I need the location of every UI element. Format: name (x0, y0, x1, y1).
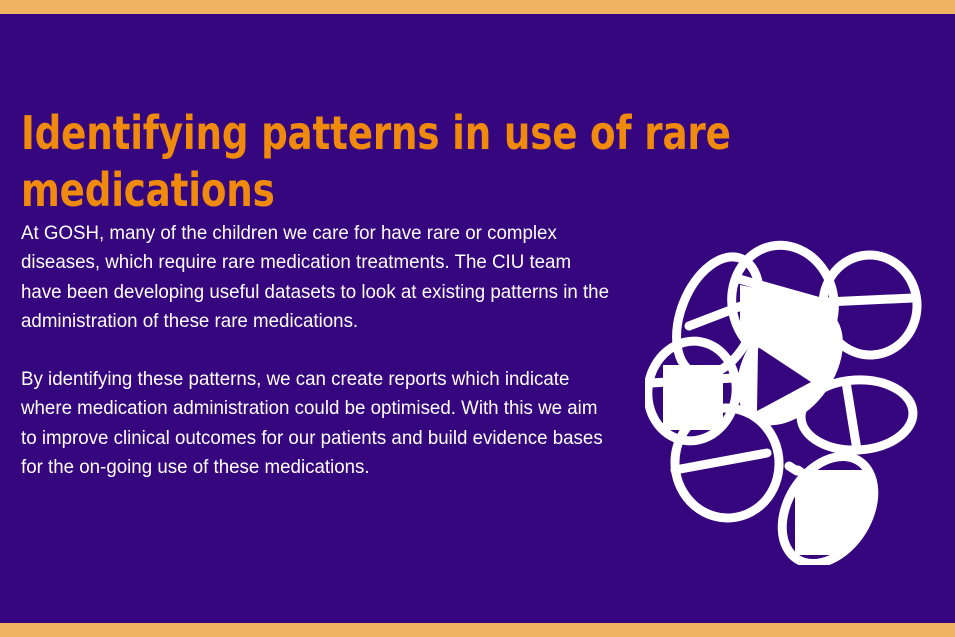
pill-icon-4 (645, 334, 744, 448)
body-paragraph-2: By identifying these patterns, we can cr… (21, 365, 611, 482)
scattered-pills-illustration (645, 225, 935, 565)
slide-canvas: Identifying patterns in use of rare medi… (0, 0, 955, 637)
page-title: Identifying patterns in use of rare medi… (21, 105, 732, 219)
top-accent-bar (0, 0, 955, 14)
bottom-accent-bar (0, 623, 955, 637)
body-paragraph-1: At GOSH, many of the children we care fo… (21, 219, 611, 336)
pill-icon-6 (799, 377, 915, 453)
body-copy: At GOSH, many of the children we care fo… (21, 219, 611, 482)
